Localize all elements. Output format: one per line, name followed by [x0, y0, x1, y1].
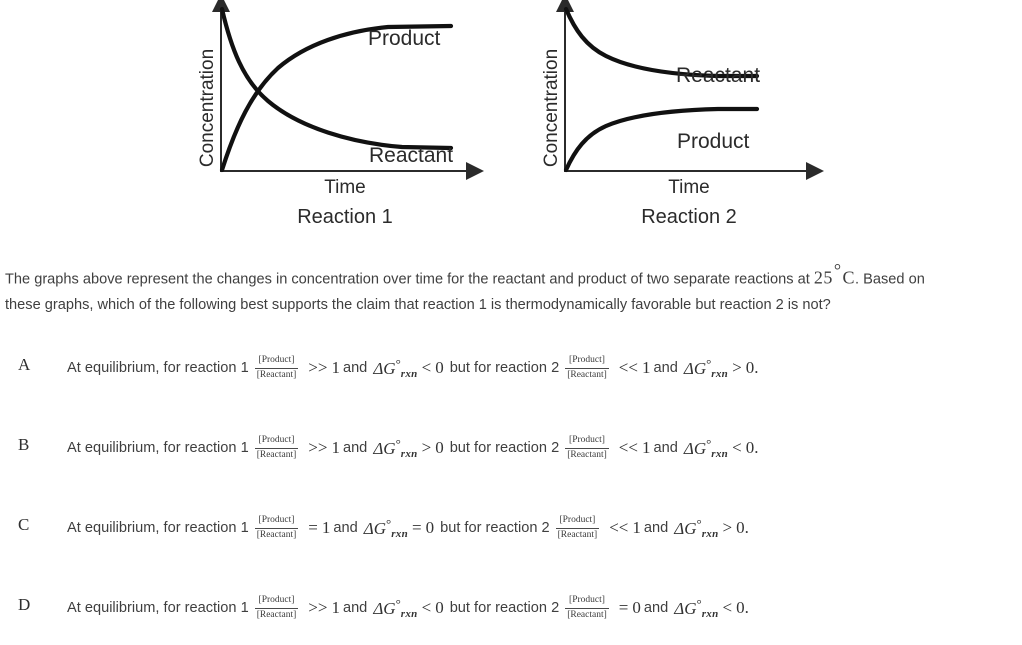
- question-stem: The graphs above represent the changes i…: [5, 258, 1017, 318]
- option-a-delta-g-1: ΔG°rxn: [373, 356, 417, 380]
- x-axis-label-reaction-2: Time: [668, 177, 710, 198]
- option-d-mid: but for reaction 2: [450, 600, 560, 616]
- option-b-ratio-1: [Product] [Reactant]: [255, 435, 299, 462]
- option-c-ratio-2-denominator: [Reactant]: [556, 528, 600, 542]
- option-a-ratio-2: [Product] [Reactant]: [565, 355, 609, 382]
- option-letter-a: A: [18, 355, 44, 375]
- caption-reaction-2: Reaction 2: [641, 206, 737, 228]
- option-c-rxn-subscript-2: rxn: [702, 528, 719, 540]
- option-row-a[interactable]: A At equilibrium, for reaction 1 [Produc…: [0, 345, 1022, 425]
- option-d-conjunction-1: and: [343, 600, 367, 616]
- option-c-lead: At equilibrium, for reaction 1: [67, 520, 249, 536]
- option-c-delta-g-relation-1: =: [412, 518, 422, 538]
- degree-icon: °: [833, 260, 843, 280]
- option-d-delta-g-relation-2: <: [723, 598, 733, 618]
- option-a-mid: but for reaction 2: [450, 360, 560, 376]
- option-letter-c: C: [18, 515, 44, 535]
- option-c-delta-g-relation-2: >: [723, 518, 733, 538]
- option-body-a: At equilibrium, for reaction 1 [Product]…: [67, 355, 758, 382]
- option-b-value-2: 1: [642, 438, 651, 458]
- option-d-ratio-1-denominator: [Reactant]: [255, 608, 299, 622]
- option-b-ratio-2-numerator: [Product]: [567, 435, 607, 448]
- option-a-conjunction-1: and: [343, 360, 367, 376]
- temperature-value: 25: [814, 268, 833, 288]
- option-d-value-2: 0: [632, 598, 641, 618]
- option-c-value-2: 1: [632, 518, 641, 538]
- option-b-delta-g-relation-1: >: [422, 438, 432, 458]
- option-b-relation-1: >>: [308, 438, 327, 458]
- option-a-ratio-1-denominator: [Reactant]: [255, 368, 299, 382]
- option-a-ratio-2-numerator: [Product]: [567, 355, 607, 368]
- option-d-value-1: 1: [331, 598, 340, 618]
- option-c-delta-g-1: ΔG°rxn: [364, 516, 408, 540]
- option-d-ratio-2-denominator: [Reactant]: [565, 608, 609, 622]
- option-a-rxn-subscript-1: rxn: [401, 368, 418, 380]
- option-body-d: At equilibrium, for reaction 1 [Product]…: [67, 595, 749, 622]
- temperature-unit: C: [843, 268, 856, 288]
- option-b-rxn-subscript-2: rxn: [711, 448, 728, 460]
- option-b-ratio-2: [Product] [Reactant]: [565, 435, 609, 462]
- option-b-ratio-1-denominator: [Reactant]: [255, 448, 299, 462]
- option-c-ratio-1-numerator: [Product]: [257, 515, 297, 528]
- option-d-rxn-subscript-1: rxn: [401, 608, 418, 620]
- option-d-lead: At equilibrium, for reaction 1: [67, 600, 249, 616]
- option-a-delta-g-relation-2: >: [732, 358, 742, 378]
- option-b-lead: At equilibrium, for reaction 1: [67, 440, 249, 456]
- option-b-rxn-subscript-1: rxn: [401, 448, 418, 460]
- option-c-ratio-2: [Product] [Reactant]: [556, 515, 600, 542]
- option-d-delta-g-value-1: 0: [435, 598, 444, 618]
- options-list: A At equilibrium, for reaction 1 [Produc…: [0, 345, 1022, 645]
- option-a-relation-2: <<: [619, 358, 638, 378]
- option-a-conjunction-2: and: [653, 360, 677, 376]
- question-text-part-1: The graphs above represent the changes i…: [5, 272, 814, 288]
- option-b-delta-g-value-2: 0.: [746, 438, 759, 458]
- option-a-delta-g-2: ΔG°rxn: [684, 356, 728, 380]
- option-b-relation-2: <<: [619, 438, 638, 458]
- option-a-delta-g-value-1: 0: [435, 358, 444, 378]
- option-b-ratio-2-denominator: [Reactant]: [565, 448, 609, 462]
- option-body-b: At equilibrium, for reaction 1 [Product]…: [67, 435, 758, 462]
- option-row-d[interactable]: D At equilibrium, for reaction 1 [Produc…: [0, 585, 1022, 645]
- option-d-delta-g-1: ΔG°rxn: [373, 596, 417, 620]
- option-c-delta-g-value-1: 0: [426, 518, 435, 538]
- option-c-mid: but for reaction 2: [440, 520, 550, 536]
- option-c-delta-g-2: ΔG°rxn: [674, 516, 718, 540]
- curve-label-product-reaction-2: Product: [677, 130, 750, 153]
- y-axis-label-reaction-2: Concentration: [541, 49, 562, 167]
- option-b-ratio-1-numerator: [Product]: [257, 435, 297, 448]
- option-d-delta-g-relation-1: <: [422, 598, 432, 618]
- option-b-delta-g-relation-2: <: [732, 438, 742, 458]
- option-c-conjunction-1: and: [333, 520, 357, 536]
- option-d-rxn-subscript-2: rxn: [702, 608, 719, 620]
- option-a-delta-g-value-2: 0.: [746, 358, 759, 378]
- option-c-ratio-1-denominator: [Reactant]: [255, 528, 299, 542]
- option-c-delta-g-value-2: 0.: [736, 518, 749, 538]
- option-c-ratio-2-numerator: [Product]: [557, 515, 597, 528]
- option-a-relation-1: >>: [308, 358, 327, 378]
- option-a-ratio-1: [Product] [Reactant]: [255, 355, 299, 382]
- option-a-delta-g-relation-1: <: [422, 358, 432, 378]
- option-c-value-1: 1: [322, 518, 331, 538]
- question-text-part-2: . Based on: [855, 272, 925, 288]
- option-b-mid: but for reaction 2: [450, 440, 560, 456]
- option-row-b[interactable]: B At equilibrium, for reaction 1 [Produc…: [0, 425, 1022, 505]
- option-a-ratio-1-numerator: [Product]: [257, 355, 297, 368]
- graph-reaction-2: Concentration Time Reactant Product Reac…: [0, 0, 1022, 240]
- option-b-value-1: 1: [331, 438, 340, 458]
- option-row-c[interactable]: C At equilibrium, for reaction 1 [Produc…: [0, 505, 1022, 585]
- option-b-delta-g-1: ΔG°rxn: [373, 436, 417, 460]
- option-letter-b: B: [18, 435, 44, 455]
- curve-label-reactant-reaction-2: Reactant: [676, 64, 760, 87]
- option-a-value-2: 1: [642, 358, 651, 378]
- option-d-ratio-1-numerator: [Product]: [257, 595, 297, 608]
- option-b-conjunction-1: and: [343, 440, 367, 456]
- option-d-conjunction-2: and: [644, 600, 668, 616]
- option-b-delta-g-2: ΔG°rxn: [684, 436, 728, 460]
- option-c-relation-2: <<: [609, 518, 628, 538]
- figure-area: Concentration Time Product Reactant Reac…: [0, 0, 1022, 240]
- option-a-lead: At equilibrium, for reaction 1: [67, 360, 249, 376]
- option-d-delta-g-value-2: 0.: [736, 598, 749, 618]
- option-d-ratio-1: [Product] [Reactant]: [255, 595, 299, 622]
- option-body-c: At equilibrium, for reaction 1 [Product]…: [67, 515, 749, 542]
- option-d-ratio-2: [Product] [Reactant]: [565, 595, 609, 622]
- option-c-rxn-subscript-1: rxn: [391, 528, 408, 540]
- option-d-ratio-2-numerator: [Product]: [567, 595, 607, 608]
- option-c-relation-1: =: [308, 518, 318, 538]
- option-b-conjunction-2: and: [653, 440, 677, 456]
- option-c-ratio-1: [Product] [Reactant]: [255, 515, 299, 542]
- option-letter-d: D: [18, 595, 44, 615]
- option-b-delta-g-value-1: 0: [435, 438, 444, 458]
- option-c-conjunction-2: and: [644, 520, 668, 536]
- option-a-value-1: 1: [331, 358, 340, 378]
- option-d-delta-g-2: ΔG°rxn: [674, 596, 718, 620]
- question-text-line-2: these graphs, which of the following bes…: [5, 297, 831, 313]
- option-d-relation-1: >>: [308, 598, 327, 618]
- option-a-ratio-2-denominator: [Reactant]: [565, 368, 609, 382]
- option-a-rxn-subscript-2: rxn: [711, 368, 728, 380]
- option-d-relation-2: =: [619, 598, 629, 618]
